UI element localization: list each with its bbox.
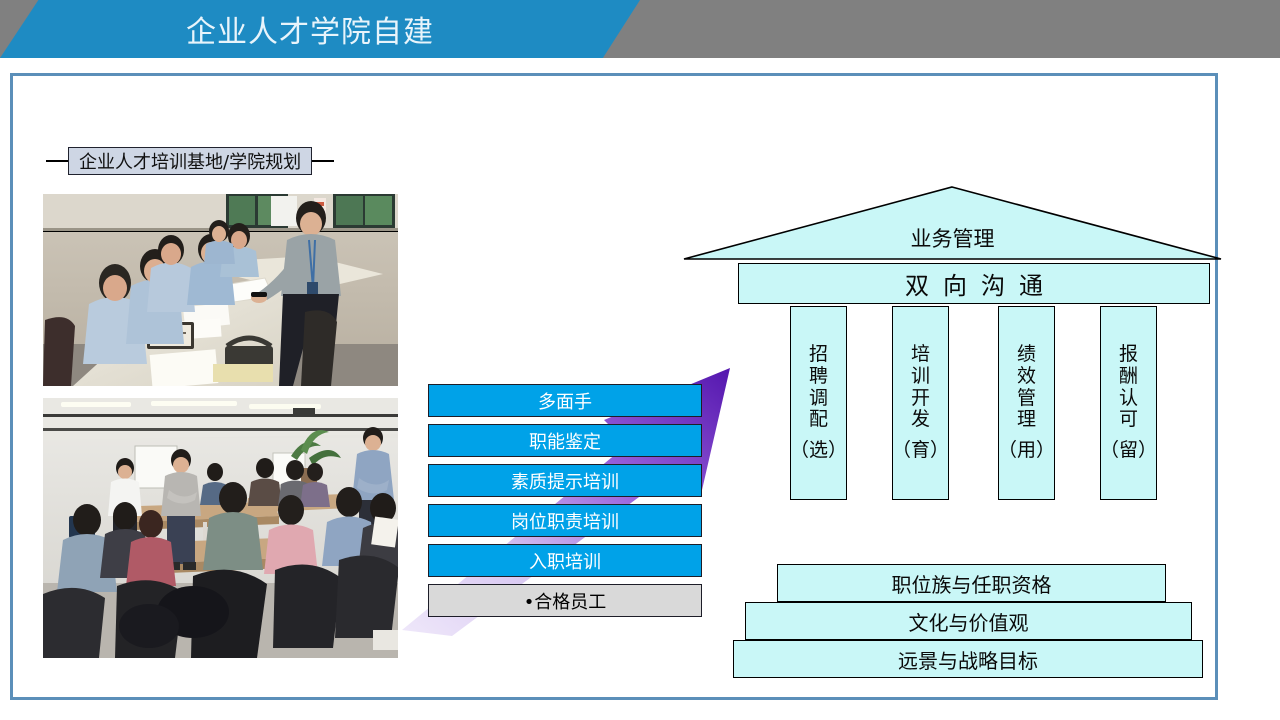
step-bar-label: 多面手 (538, 388, 592, 414)
pillar-main-label: 招聘调配 (809, 344, 828, 431)
training-step-stack: 多面手 职能鉴定 素质提示培训 岗位职责培训 入职培训 •合格员工 (428, 384, 702, 624)
label-left-rule (46, 160, 68, 162)
plan-label-row: 企业人才培训基地/学院规划 (46, 146, 426, 176)
step-bar-3[interactable]: 岗位职责培训 (428, 504, 702, 537)
step-bar-label: •合格员工 (524, 588, 607, 614)
pillar-main-label: 绩效管理 (1017, 344, 1036, 431)
plan-label: 企业人才培训基地/学院规划 (68, 147, 312, 175)
roof-label: 业务管理 (680, 221, 1225, 255)
step-bar-label: 岗位职责培训 (511, 508, 619, 534)
pillar-tail-label: （选） (790, 440, 847, 462)
step-bar-5[interactable]: •合格员工 (428, 584, 702, 617)
step-bar-label: 入职培训 (529, 548, 601, 574)
step-bar-label: 职能鉴定 (529, 428, 601, 454)
page-title: 企业人才学院自建 (0, 0, 620, 58)
pillar-tail-label: （留） (1100, 440, 1157, 462)
label-right-rule (312, 160, 334, 162)
training-room-photo (43, 398, 398, 658)
pillar-main-label: 报酬认可 (1119, 344, 1138, 431)
communication-bar: 双向沟通 (738, 263, 1210, 304)
step-bar-1[interactable]: 职能鉴定 (428, 424, 702, 457)
meeting-room-photo (43, 194, 398, 386)
pillar-tail-label: （育） (892, 440, 949, 462)
step-bar-label: 素质提示培训 (511, 468, 619, 494)
base-bar-culture: 文化与价值观 (745, 602, 1192, 640)
slide-canvas: 企业人才培训基地/学院规划 (0, 58, 1280, 720)
hr-temple-diagram: 业务管理 双向沟通 招聘调配 （选） 培训开发 （育） 绩效管理 （用） 报酬认… (680, 183, 1225, 703)
step-bar-0[interactable]: 多面手 (428, 384, 702, 417)
pillar-tail-label: （用） (998, 440, 1055, 462)
pillar-recruitment[interactable]: 招聘调配 （选） (790, 306, 847, 500)
base-bar-vision: 远景与战略目标 (733, 640, 1203, 678)
pillar-compensation[interactable]: 报酬认可 （留） (1100, 306, 1157, 500)
pillar-main-label: 培训开发 (911, 344, 930, 431)
pillar-performance[interactable]: 绩效管理 （用） (998, 306, 1055, 500)
step-bar-4[interactable]: 入职培训 (428, 544, 702, 577)
step-bar-2[interactable]: 素质提示培训 (428, 464, 702, 497)
pillar-training[interactable]: 培训开发 （育） (892, 306, 949, 500)
base-bar-job-family: 职位族与任职资格 (777, 564, 1166, 602)
title-banner: 企业人才学院自建 (0, 0, 1280, 58)
